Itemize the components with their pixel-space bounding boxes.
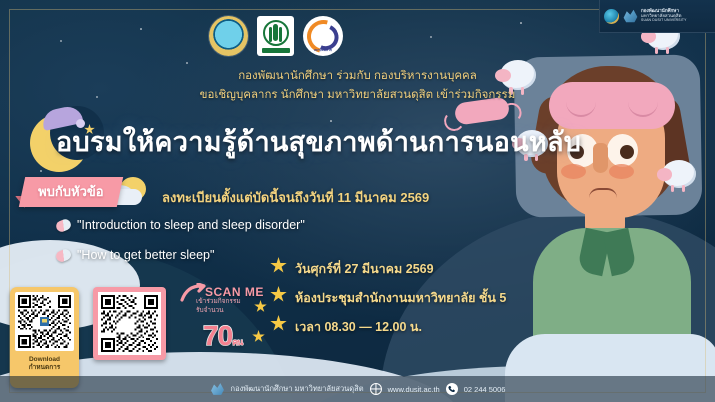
star-dot (430, 36, 432, 38)
star-dot (186, 62, 188, 64)
download-qr-frame (15, 292, 74, 351)
partner-logos: สถาบันจิตเวช (209, 16, 343, 56)
star-dot (140, 28, 142, 30)
download-caption: Download กำหนดการ (15, 356, 74, 371)
organiser-line-2: ขอเชิญบุคลากร นักศึกษา มหาวิทยาลัยสวนดุส… (0, 86, 715, 105)
cheek-left (561, 164, 586, 179)
star-icon (270, 315, 287, 332)
university-logo-mark-icon (622, 9, 638, 24)
globe-icon (370, 383, 382, 395)
scan-me-label: SCAN ME (205, 285, 264, 299)
star-icon (270, 257, 287, 274)
download-label-th: กำหนดการ (15, 364, 74, 372)
university-seal-icon (604, 9, 619, 24)
footer-website[interactable]: www.dusit.ac.th (388, 385, 440, 394)
royal-seal-logo-icon (209, 16, 248, 56)
phone-icon (446, 383, 458, 395)
star-dot (60, 40, 62, 42)
pill-icon (54, 218, 72, 234)
registration-qr-card[interactable] (93, 287, 166, 360)
logo-c-label: สถาบันจิตเวช (303, 48, 343, 53)
organiser-lines: กองพัฒนานักศึกษา ร่วมกับ กองบริหารงานบุค… (0, 67, 715, 104)
capacity-unit: คน (232, 337, 242, 347)
cheek-right (609, 164, 634, 179)
download-qr-code[interactable] (18, 295, 71, 348)
event-date: วันศุกร์ที่ 27 มีนาคม 2569 (295, 259, 434, 279)
footer-logo-icon (210, 382, 225, 396)
registration-period: ลงทะเบียนตั้งแต่บัดนี้จนถึงวันที่ 11 มีน… (162, 187, 429, 208)
capacity-number: 70คน (203, 320, 242, 352)
mouth (589, 188, 617, 198)
registration-qr-frame (98, 292, 161, 355)
event-venue: ห้องประชุมสำนักงานมหาวิทยาลัย ชั้น 5 (295, 288, 506, 308)
eye-right (607, 134, 638, 167)
topic-item: "How to get better sleep" (77, 248, 214, 262)
event-time: เวลา 08.30 — 12.00 น. (295, 317, 422, 337)
topic-item: "Introduction to sleep and sleep disorde… (77, 218, 305, 232)
capacity-value: 70 (203, 320, 232, 351)
sheep-icon (662, 160, 696, 188)
university-brand-bar: กองพัฒนานักศึกษา มหาวิทยาลัยสวนดุสิต SUA… (599, 0, 715, 33)
scan-subtext: เข้าร่วมกิจกรรม รับจำนวน (196, 298, 241, 316)
topics-ribbon: พบกับหัวข้อ (19, 177, 123, 207)
ribbon-label: พบกับหัวข้อ (38, 181, 104, 202)
university-brand-text: กองพัฒนานักศึกษา มหาวิทยาลัยสวนดุสิต SUA… (641, 9, 687, 22)
poster-title: อบรมให้ความรู้ด้านสุขภาพด้านการนอนหลับ (56, 120, 581, 163)
footer-phone: 02 244 5006 (464, 385, 506, 394)
scan-subtext-line-1: เข้าร่วมกิจกรรม (196, 298, 241, 307)
organiser-line-1: กองพัฒนานักศึกษา ร่วมกับ กองบริหารงานบุค… (0, 67, 715, 86)
poster-canvas: กองพัฒนานักศึกษา มหาวิทยาลัยสวนดุสิต SUA… (0, 0, 715, 402)
psychiatric-institute-logo-icon: สถาบันจิตเวช (303, 16, 343, 56)
download-label-en: Download (15, 356, 74, 364)
registration-qr-code[interactable] (101, 295, 158, 352)
star-icon (254, 300, 267, 313)
nose (593, 143, 608, 173)
ministry-of-health-logo-icon (257, 16, 294, 56)
footer-organisation: กองพัฒนานักศึกษา มหาวิทยาลัยสวนดุสิต (231, 383, 364, 395)
star-dot (520, 22, 522, 24)
star-icon (270, 286, 287, 303)
scan-subtext-line-2: รับจำนวน (196, 307, 241, 316)
footer-bar: กองพัฒนานักศึกษา มหาวิทยาลัยสวนดุสิต www… (0, 376, 715, 402)
download-qr-card[interactable]: Download กำหนดการ (10, 287, 79, 388)
brand-line-3: SUAN DUSIT UNIVERSITY (641, 19, 687, 23)
